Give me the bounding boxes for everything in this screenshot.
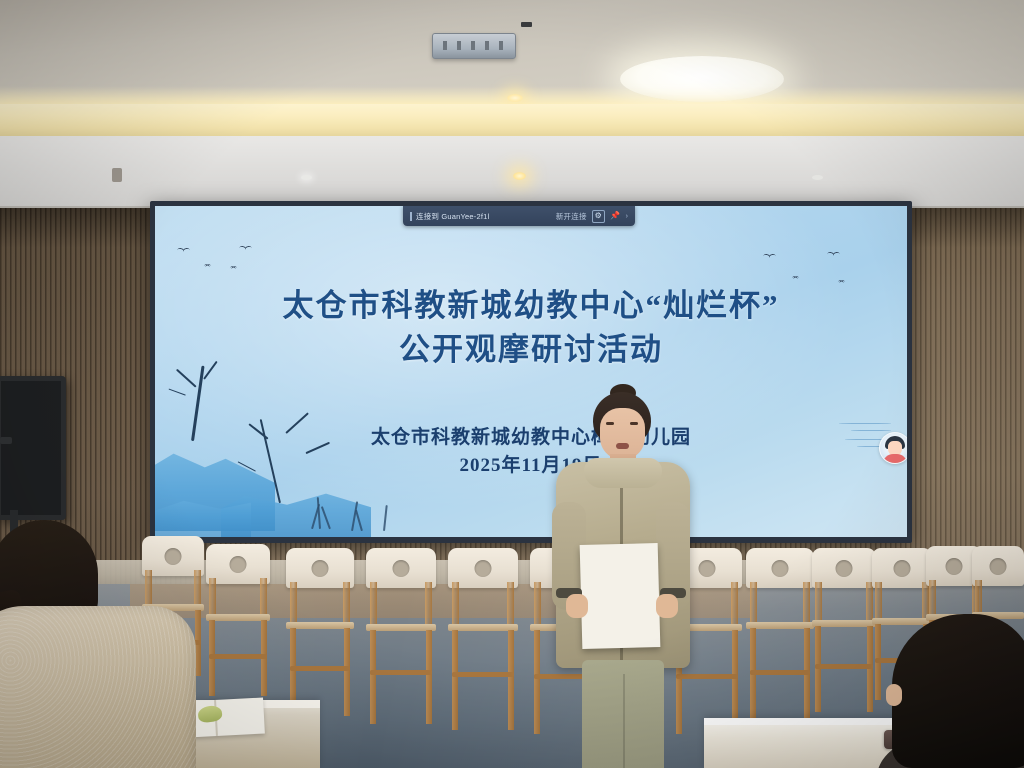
slide-title-line2: 公开观摩研讨活动 (155, 328, 907, 372)
chair-hole (946, 558, 963, 575)
seated-attendee-right (882, 614, 1024, 768)
chair-post (815, 582, 822, 624)
chair[interactable] (366, 548, 436, 724)
presenter-collar (584, 458, 662, 488)
standing-presenter (536, 392, 706, 768)
slide-subtitle: 太仓市科教新城幼教中心樟亭幼儿园 (155, 422, 907, 449)
chair-leg (750, 628, 756, 726)
chair-hole (312, 560, 329, 577)
chair-post (929, 580, 936, 618)
connection-label: 连接到 GuanYee-2f1l (416, 211, 489, 222)
chevron-right-icon[interactable]: › (626, 213, 628, 220)
chair-rail (815, 664, 873, 669)
chair-hole (894, 560, 911, 577)
chair[interactable] (812, 548, 876, 712)
chair-post (370, 582, 377, 628)
chair-leg (426, 630, 432, 724)
bird-icon (177, 248, 190, 254)
presenter-face (600, 408, 645, 460)
chair-rail (452, 672, 514, 677)
ceiling-round-light (620, 56, 784, 102)
attendee-fleece-coat (0, 606, 196, 768)
downlight-icon (513, 172, 526, 180)
chair-hole (475, 560, 492, 577)
downlight-icon (812, 175, 823, 180)
chair-rail (750, 670, 810, 675)
avatar-body (883, 454, 907, 464)
pin-icon[interactable]: 📌 (610, 211, 621, 222)
new-connection-button[interactable]: 新开连接 (556, 211, 587, 222)
white-paper-sheet (580, 543, 661, 649)
slide-title-line1: 太仓市科教新城幼教中心“灿烂杯” (283, 288, 780, 323)
chair-post (452, 582, 459, 628)
screen-share-toolbar[interactable]: 连接到 GuanYee-2f1l 新开连接 ⚙ 📌 › (403, 206, 635, 226)
presenter-hand (566, 594, 588, 618)
ceiling-soffit (0, 136, 1024, 210)
bird-icon (230, 266, 238, 269)
projector-mount (521, 22, 532, 27)
presenter-eye (606, 422, 614, 425)
slide-date: 2025年11月19日 (155, 450, 907, 477)
projection-screen[interactable]: 太仓市科教新城幼教中心“灿烂杯” 公开观摩研讨活动 太仓市科教新城幼教中心樟亭幼… (155, 206, 907, 537)
smoke-sensor-icon (112, 168, 122, 182)
chair[interactable] (746, 548, 814, 726)
chair-leg (452, 630, 458, 730)
chair-post (343, 582, 350, 626)
chair-hole (990, 558, 1007, 575)
chair-post (425, 582, 432, 628)
connection-indicator-icon (410, 212, 412, 221)
branch-icon (169, 388, 186, 395)
chair-post (975, 580, 982, 616)
presenter-mouth (616, 443, 629, 449)
chair-leg (804, 628, 810, 726)
wall-mounted-display (0, 376, 66, 520)
chair-leg (815, 626, 821, 712)
chair-hole (772, 560, 789, 577)
chair-hole (393, 560, 410, 577)
chair-rail (370, 670, 432, 675)
bird-icon (792, 276, 800, 279)
downlight-icon (301, 175, 312, 180)
chair-hole (836, 560, 853, 577)
presenter-trousers (582, 660, 664, 768)
chair-post (731, 582, 738, 628)
chair-post (875, 582, 882, 622)
chair-leg (370, 630, 376, 724)
bird-icon (763, 254, 776, 260)
chair-post (260, 578, 267, 618)
presenter-hand (656, 594, 678, 618)
chair-rail (290, 666, 350, 671)
attendee-hair (892, 614, 1024, 768)
toolbar-actions: 新开连接 ⚙ 📌 › (556, 210, 628, 223)
chair-leg (344, 628, 350, 716)
chair-post (507, 582, 514, 628)
gear-icon[interactable]: ⚙ (592, 210, 605, 223)
ceiling-projector (432, 33, 516, 59)
bird-icon (827, 252, 840, 258)
avatar (879, 432, 907, 464)
chair-post (290, 582, 297, 626)
chair[interactable] (286, 548, 354, 716)
attendee-ear (886, 684, 902, 706)
chair[interactable] (448, 548, 518, 730)
slide-title: 太仓市科教新城幼教中心“灿烂杯” 公开观摩研讨活动 (155, 284, 907, 372)
display-bracket (0, 437, 12, 444)
bird-icon (204, 264, 212, 267)
chair-leg (508, 630, 514, 730)
seated-attendee-left (0, 520, 220, 768)
toolbar-connection-group: 连接到 GuanYee-2f1l (410, 211, 550, 222)
bird-icon (239, 246, 252, 252)
chair-post (750, 582, 757, 626)
presenter-eye (630, 422, 638, 425)
downlight-icon (507, 94, 523, 102)
chair-post (803, 582, 810, 626)
chair-hole (230, 556, 247, 573)
photo-scene: 太仓市科教新城幼教中心“灿烂杯” 公开观摩研讨活动 太仓市科教新城幼教中心樟亭幼… (0, 0, 1024, 768)
grass-icon (383, 505, 388, 531)
coat-texture (0, 606, 196, 768)
cove-light-strip (0, 104, 1024, 138)
